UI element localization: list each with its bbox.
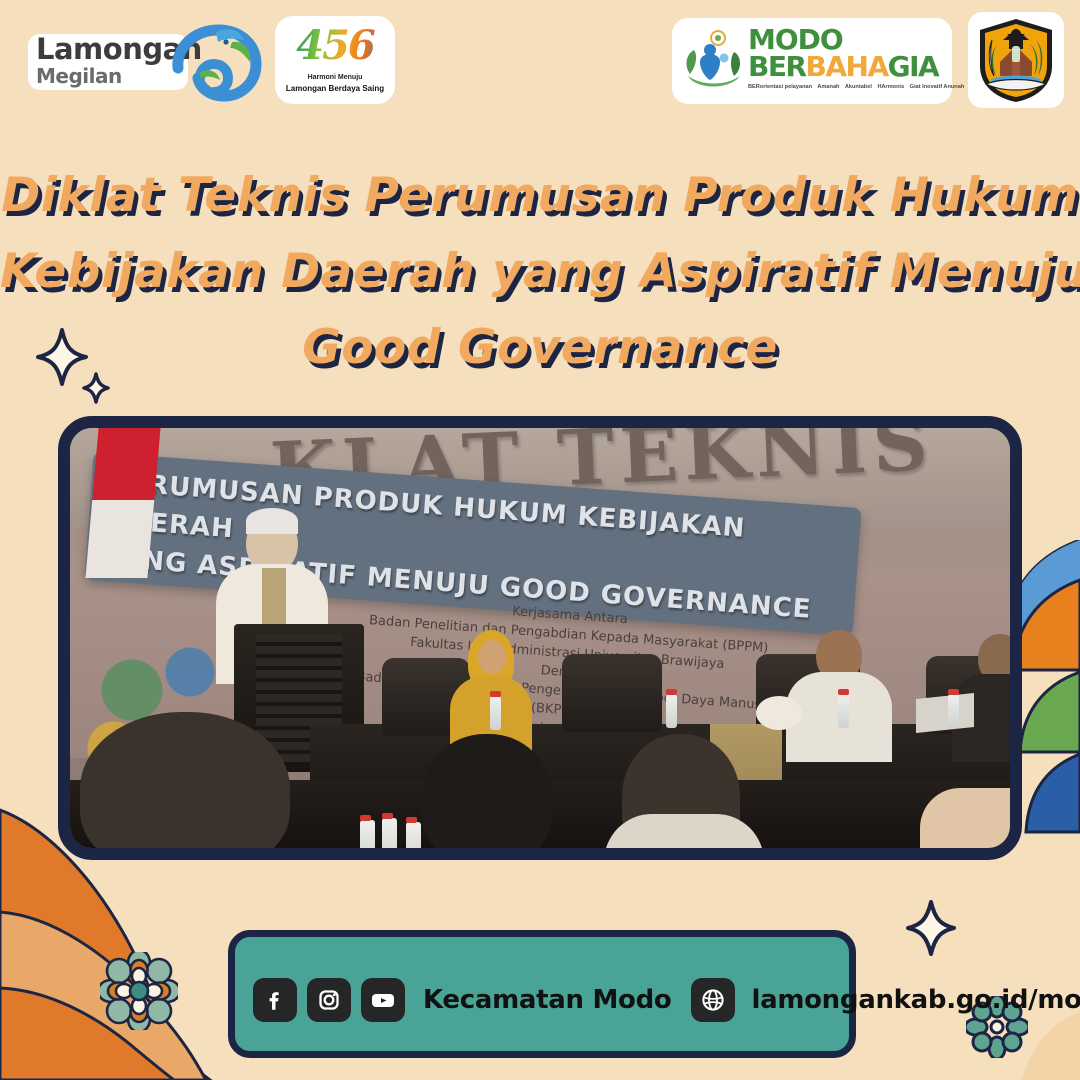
globe-icon[interactable] — [691, 978, 735, 1022]
provincial-emblem-icon — [974, 16, 1058, 104]
header-logo-bar: Lamongan Megilan 456 Harmoni Menuju Lamo… — [0, 0, 1080, 120]
footer-contact-bar: Kecamatan Modo lamongankab.go.id/modo — [228, 930, 856, 1058]
footer-social-handle: Kecamatan Modo — [423, 985, 671, 1015]
photo-audience-head — [422, 734, 552, 860]
logo-line-berbahagia: BERBAHAGIA — [748, 53, 944, 81]
people-leaf-icon — [680, 28, 748, 94]
photo-water-bottle — [838, 694, 849, 728]
event-photo-frame: KLAT TEKNIS PERUMUSAN PRODUK HUKUM KEBIJ… — [58, 416, 1022, 860]
flower-retro-bottom-left-icon — [100, 952, 178, 1030]
facebook-icon[interactable] — [253, 978, 297, 1022]
logo-lamongan-megilan: Lamongan Megilan — [10, 18, 260, 104]
logo-east-java-emblem — [968, 12, 1064, 108]
instagram-icon[interactable] — [307, 978, 351, 1022]
photo-foreground-bottle — [360, 820, 375, 860]
photo-water-bottle — [1014, 696, 1022, 730]
footer-website-url: lamongankab.go.id/modo — [751, 985, 1080, 1015]
photo-water-bottle — [666, 694, 677, 728]
photo-foreground-bottle — [382, 818, 397, 860]
logo-tagline-1: Harmoni Menuju — [275, 74, 395, 81]
poster-title: Diklat Teknis Perumusan Produk Hukum Keb… — [0, 158, 1080, 386]
photo-foreground-bottle — [406, 822, 421, 860]
dolphin-wave-icon — [170, 20, 262, 104]
photo-flowers — [756, 696, 802, 730]
logo-wordmark: MODO BERBAHAGIA BERorientasi pelayanan A… — [748, 26, 944, 91]
logo-value-3: HArmonis — [877, 84, 904, 90]
logo-values-list: BERorientasi pelayanan Amanah Akuntabel … — [748, 83, 944, 91]
footer-row: Kecamatan Modo lamongankab.go.id/modo — [253, 975, 1080, 1025]
logo-value-2: Akuntabel — [845, 84, 872, 90]
indonesian-flag — [85, 428, 160, 578]
photo-chair — [562, 654, 662, 732]
logo-anniversary-456: 456 Harmoni Menuju Lamongan Berdaya Sain… — [275, 16, 395, 104]
poster-canvas: Lamongan Megilan 456 Harmoni Menuju Lamo… — [0, 0, 1080, 1080]
logo-wordmark: Lamongan Megilan — [36, 34, 186, 87]
logo-modo-berbahagia: MODO BERBAHAGIA BERorientasi pelayanan A… — [672, 18, 952, 104]
event-photo: KLAT TEKNIS PERUMUSAN PRODUK HUKUM KEBIJ… — [70, 428, 1010, 848]
logo-line-modo: MODO — [748, 26, 944, 53]
logo-tagline-2: Lamongan Berdaya Saing — [275, 84, 395, 93]
photo-audience-head — [80, 712, 290, 860]
title-line-3: Good Governance — [0, 310, 1080, 386]
photo-water-bottle — [948, 694, 959, 728]
photo-laptop — [916, 693, 974, 733]
logo-value-4: Giat Inovatif Anunah — [910, 84, 965, 90]
title-line-2: Kebijakan Daerah yang Aspiratif Menuju — [0, 234, 1080, 310]
logo-line-2: Megilan — [36, 65, 186, 87]
title-line-1: Diklat Teknis Perumusan Produk Hukum — [0, 158, 1080, 234]
youtube-icon[interactable] — [361, 978, 405, 1022]
logo-value-0: BERorientasi pelayanan — [748, 84, 812, 90]
photo-audience-arm — [920, 788, 1010, 860]
logo-line-1: Lamongan — [36, 34, 186, 65]
sparkle-right-icon — [906, 900, 956, 956]
photo-water-bottle — [490, 696, 501, 730]
logo-value-1: Amanah — [817, 84, 839, 90]
logo-anniversary-number: 456 — [281, 20, 389, 72]
photo-audience-shoulder — [604, 814, 764, 860]
